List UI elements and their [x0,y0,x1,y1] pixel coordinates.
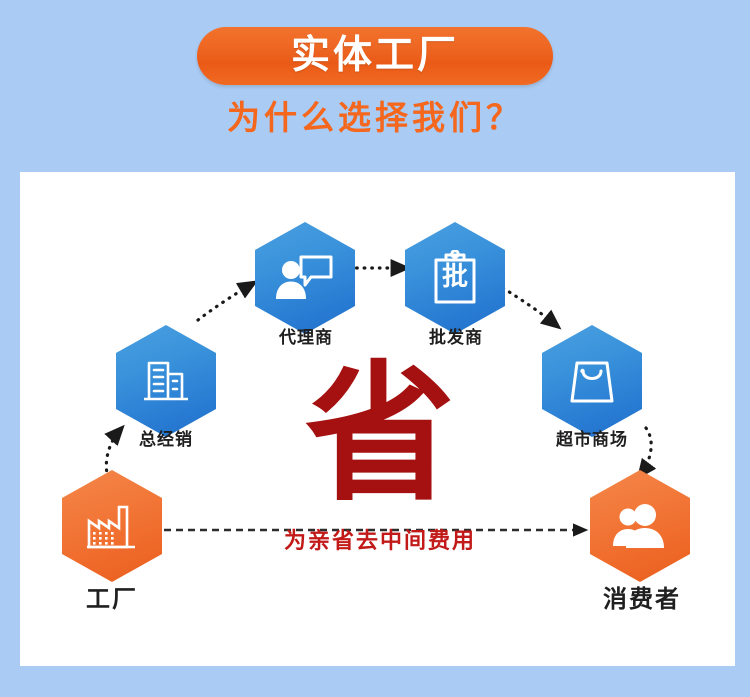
two-people-icon [611,502,669,550]
building-icon [140,356,192,406]
badge-label: 实体工厂 [291,36,459,77]
node-label-consumer: 消费者 [577,588,707,612]
node-label-agent: 代理商 [246,329,366,346]
node-label-distributor: 总经销 [106,431,226,448]
page-header: 实体工厂 为什么选择我们？ [0,0,750,170]
slogan-text: 为亲省去中间费用 [235,530,525,552]
clipboard-pi-icon: 批 [431,250,479,306]
shopping-bag-icon [565,355,619,407]
node-label-supermarket: 超市商场 [527,431,657,448]
page-subtitle: 为什么选择我们？ [0,98,750,138]
factory-badge: 实体工厂 [197,27,553,85]
clipboard-glyph: 批 [431,264,479,290]
person-speech-icon [275,253,335,303]
center-character: 省 [300,360,460,510]
node-label-factory: 工厂 [47,588,177,612]
node-label-wholesaler: 批发商 [396,329,516,346]
factory-icon [85,501,139,551]
